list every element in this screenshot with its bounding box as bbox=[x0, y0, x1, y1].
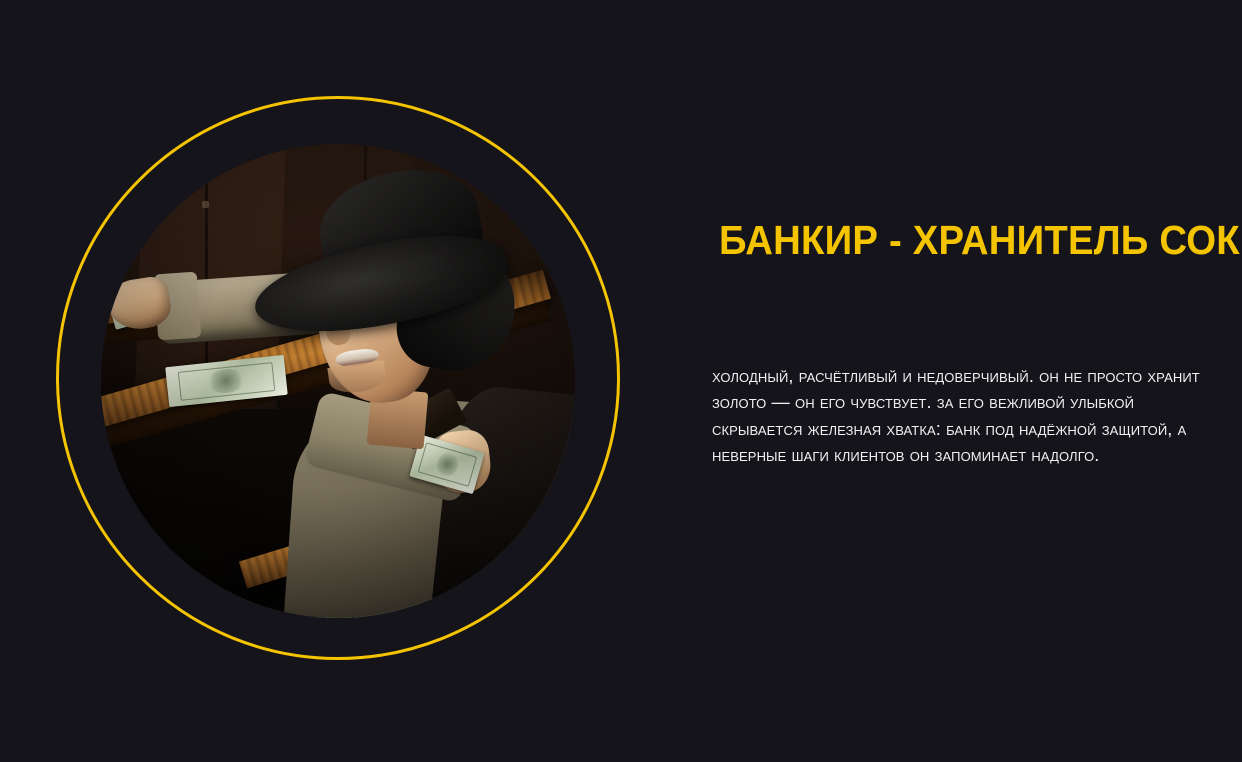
character-description: Холодный, расчётливый и недоверчивый. Он… bbox=[712, 363, 1222, 469]
photo-inner bbox=[101, 144, 575, 618]
backdrop-clip bbox=[202, 201, 209, 208]
page-title: БАНКИР - ХРАНИТЕЛЬ СОКРОВИЩ bbox=[719, 218, 1208, 262]
slide-root: БАНКИР - ХРАНИТЕЛЬ СОКРОВИЩ Холодный, ра… bbox=[0, 0, 1242, 762]
character-photo bbox=[101, 144, 575, 618]
text-column: БАНКИР - ХРАНИТЕЛЬ СОКРОВИЩ Холодный, ра… bbox=[712, 0, 1242, 762]
character-visual bbox=[0, 0, 660, 762]
